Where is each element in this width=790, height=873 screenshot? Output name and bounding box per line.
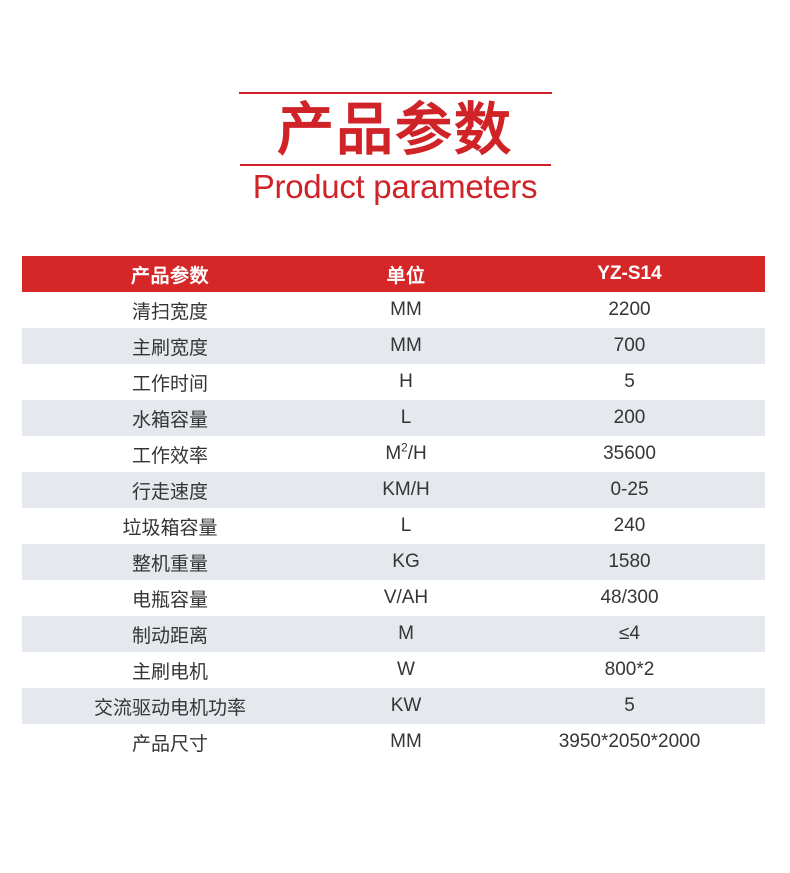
cell-parameter: 清扫宽度 <box>22 292 318 328</box>
cell-unit: L <box>318 508 494 544</box>
cell-value: 240 <box>494 508 765 544</box>
cell-unit: H <box>318 364 494 400</box>
cell-parameter: 工作时间 <box>22 364 318 400</box>
cell-unit: MM <box>318 292 494 328</box>
table-row: 行走速度KM/H0-25 <box>22 472 765 508</box>
table-header: 产品参数 单位 YZ-S14 <box>22 256 765 292</box>
table-row: 工作时间H5 <box>22 364 765 400</box>
cell-unit: W <box>318 652 494 688</box>
cell-value: 35600 <box>494 436 765 472</box>
table-row: 主刷电机W800*2 <box>22 652 765 688</box>
cell-parameter: 工作效率 <box>22 436 318 472</box>
cell-value: 5 <box>494 364 765 400</box>
cell-parameter: 行走速度 <box>22 472 318 508</box>
cell-value: 200 <box>494 400 765 436</box>
table-row: 工作效率M2/H35600 <box>22 436 765 472</box>
table-row: 交流驱动电机功率KW5 <box>22 688 765 724</box>
cell-value: 48/300 <box>494 580 765 616</box>
cell-value: ≤4 <box>494 616 765 652</box>
column-header-unit: 单位 <box>318 256 494 292</box>
table-header-row: 产品参数 单位 YZ-S14 <box>22 256 765 292</box>
table-row: 主刷宽度MM700 <box>22 328 765 364</box>
product-parameters-page: 产品参数 Product parameters 产品参数 单位 YZ-S14 清… <box>0 0 790 873</box>
cell-value: 2200 <box>494 292 765 328</box>
cell-unit: KW <box>318 688 494 724</box>
cell-parameter: 水箱容量 <box>22 400 318 436</box>
cell-value: 3950*2050*2000 <box>494 724 765 760</box>
page-header: 产品参数 Product parameters <box>0 92 790 208</box>
cell-parameter: 整机重量 <box>22 544 318 580</box>
table-row: 制动距离M≤4 <box>22 616 765 652</box>
cell-parameter: 主刷电机 <box>22 652 318 688</box>
cell-unit: MM <box>318 724 494 760</box>
column-header-parameter: 产品参数 <box>22 256 318 292</box>
table-row: 电瓶容量V/AH48/300 <box>22 580 765 616</box>
cell-unit: L <box>318 400 494 436</box>
header-divider-top <box>239 92 552 94</box>
cell-value: 700 <box>494 328 765 364</box>
cell-unit: MM <box>318 328 494 364</box>
cell-parameter: 交流驱动电机功率 <box>22 688 318 724</box>
table-row: 整机重量KG1580 <box>22 544 765 580</box>
cell-parameter: 产品尺寸 <box>22 724 318 760</box>
cell-value: 0-25 <box>494 472 765 508</box>
unit-superscript: 2 <box>401 442 408 455</box>
cell-unit: M2/H <box>318 436 494 472</box>
cell-value: 5 <box>494 688 765 724</box>
cell-parameter: 主刷宽度 <box>22 328 318 364</box>
table-row: 清扫宽度MM2200 <box>22 292 765 328</box>
cell-value: 1580 <box>494 544 765 580</box>
cell-parameter: 垃圾箱容量 <box>22 508 318 544</box>
cell-parameter: 制动距离 <box>22 616 318 652</box>
table-body: 清扫宽度MM2200主刷宽度MM700工作时间H5水箱容量L200工作效率M2/… <box>22 292 765 760</box>
column-header-model: YZ-S14 <box>494 256 765 292</box>
cell-unit: M <box>318 616 494 652</box>
table-row: 水箱容量L200 <box>22 400 765 436</box>
table-row: 产品尺寸MM3950*2050*2000 <box>22 724 765 760</box>
cell-unit: V/AH <box>318 580 494 616</box>
cell-parameter: 电瓶容量 <box>22 580 318 616</box>
page-subtitle: Product parameters <box>0 166 790 208</box>
page-title: 产品参数 <box>0 98 790 162</box>
cell-unit: KM/H <box>318 472 494 508</box>
product-parameters-table: 产品参数 单位 YZ-S14 清扫宽度MM2200主刷宽度MM700工作时间H5… <box>22 256 765 760</box>
cell-value: 800*2 <box>494 652 765 688</box>
cell-unit: KG <box>318 544 494 580</box>
table-row: 垃圾箱容量L240 <box>22 508 765 544</box>
